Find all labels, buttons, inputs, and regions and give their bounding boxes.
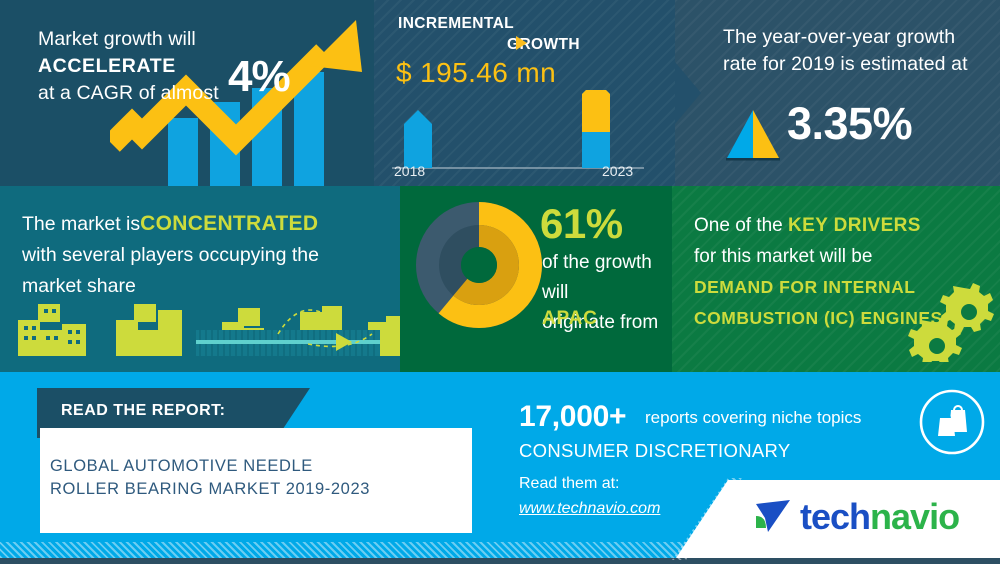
logo-text-navio: navio xyxy=(870,496,959,537)
concentration-text-emphasis: CONCENTRATED xyxy=(140,212,318,235)
paper-plane-icon xyxy=(752,498,794,536)
panel-incremental-growth: INCREMENTAL GROWTH $ 195.46 mn 2018 2023 xyxy=(374,0,675,186)
panel-apac-growth: 61% of the growth will originate from AP… xyxy=(400,186,672,372)
cagr-text-bold: ACCELERATE xyxy=(38,55,176,77)
concentration-text-line2: with several players occupying the xyxy=(22,244,319,266)
incremental-growth-label: INCREMENTAL GROWTH xyxy=(398,13,598,55)
cagr-text-plain: Market growth will xyxy=(38,28,196,50)
apac-region-label: APAC xyxy=(542,308,598,330)
apac-percent: 61% xyxy=(540,200,623,248)
yoy-text-line1: The year-over-year growth xyxy=(723,26,955,48)
split-triangle-icon xyxy=(723,108,783,162)
apac-donut-chart xyxy=(414,200,544,330)
shopping-bags-icon xyxy=(918,388,986,456)
drivers-text-plain: One of the xyxy=(694,215,788,236)
reports-count-subtext: reports covering niche topics xyxy=(645,408,861,428)
panel-key-drivers: One of the KEY DRIVERS for this market w… xyxy=(672,186,1000,372)
report-title-line2: ROLLER BEARING MARKET 2019-2023 xyxy=(50,480,370,498)
reports-count: 17,000+ xyxy=(519,400,626,434)
incremental-year-2018: 2018 xyxy=(394,163,425,179)
driver-line2: COMBUSTION (IC) ENGINES xyxy=(694,308,943,328)
report-title: GLOBAL AUTOMOTIVE NEEDLE ROLLER BEARING … xyxy=(50,455,450,501)
incremental-label-line1: INCREMENTAL xyxy=(398,15,514,32)
concentration-text-plain: The market is xyxy=(22,213,140,235)
infographic-root: Market growth will ACCELERATE at a CAGR … xyxy=(0,0,1000,564)
cagr-value: 4% xyxy=(228,52,290,102)
cagr-text-line2: at a CAGR of almost xyxy=(38,82,219,104)
report-card-notch xyxy=(432,509,456,533)
cagr-statement: Market growth will ACCELERATE at a CAGR … xyxy=(38,26,338,107)
yoy-text-line2: rate for 2019 is estimated at xyxy=(723,53,968,75)
incremental-label-line2: GROWTH xyxy=(398,34,598,55)
report-title-line1: GLOBAL AUTOMOTIVE NEEDLE xyxy=(50,457,313,475)
technavio-wordmark: technavio xyxy=(800,496,959,538)
yoy-statement: The year-over-year growth rate for 2019 … xyxy=(723,24,993,78)
footer-baseline xyxy=(0,558,1000,564)
incremental-growth-value: $ 195.46 mn xyxy=(396,57,556,89)
chevron-right-icon xyxy=(675,0,709,186)
reports-category: CONSUMER DISCRETIONARY xyxy=(519,440,790,462)
driver-line1: DEMAND FOR INTERNAL xyxy=(694,277,915,297)
incremental-year-2023: 2023 xyxy=(602,163,633,179)
panel-cagr: Market growth will ACCELERATE at a CAGR … xyxy=(0,0,374,186)
drivers-text-line2: for this market will be xyxy=(694,246,872,267)
technavio-logo[interactable]: technavio xyxy=(752,496,959,538)
drivers-text-emphasis: KEY DRIVERS xyxy=(788,215,921,236)
panel-market-concentration: The market isCONCENTRATED with several p… xyxy=(0,186,400,372)
read-the-report-label: READ THE REPORT: xyxy=(61,402,225,420)
read-them-at-label: Read them at: xyxy=(519,475,620,493)
yoy-value: 3.35% xyxy=(787,98,912,150)
triangle-marker-icon xyxy=(516,36,527,50)
gears-icon xyxy=(908,280,994,362)
website-link[interactable]: www.technavio.com xyxy=(519,500,660,518)
logo-text-tech: tech xyxy=(800,496,870,537)
city-skyline-icon xyxy=(0,282,400,372)
apac-text-line1: of the growth will xyxy=(542,252,652,303)
panel-yoy-growth: The year-over-year growth rate for 2019 … xyxy=(675,0,1000,186)
